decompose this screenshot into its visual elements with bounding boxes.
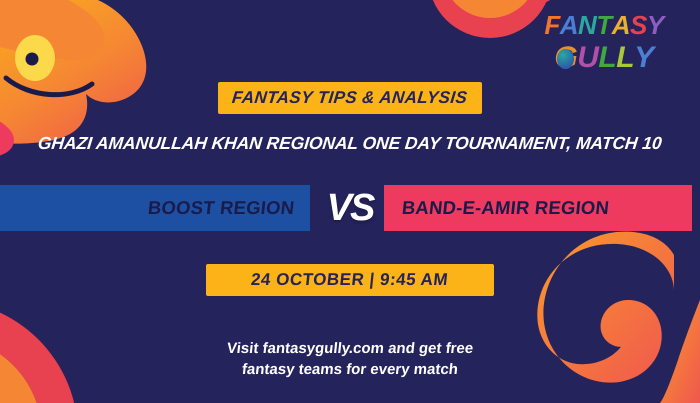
team-left-bar[interactable]: BOOST REGION [0,185,310,231]
poster-canvas: FANTASY GULLY FANTASY TIPS & ANALYSIS GH… [0,0,700,403]
brand-logo-line1: FANTASY [520,8,688,38]
poster-content: FANTASY GULLY FANTASY TIPS & ANALYSIS GH… [0,0,700,403]
footer-line-1: Visit fantasygully.com and get free [0,338,700,359]
brand-letter-l-2: L [598,43,616,73]
brand-letter-a-1: A [560,12,578,38]
chameleon-icon [557,49,574,69]
brand-letter-u-1: U [577,43,598,73]
brand-letter-g-0: G [554,43,577,73]
brand-letter-s-5: S [630,12,647,38]
team-left-name: BOOST REGION [148,197,294,219]
team-right-name: BAND-E-AMIR REGION [402,197,609,219]
tournament-title-text: GHAZI AMANULLAH KHAN REGIONAL ONE DAY TO… [37,133,663,154]
brand-letter-y-4: Y [634,43,654,73]
brand-letter-a-4: A [612,12,630,38]
brand-logo[interactable]: FANTASY GULLY [520,8,688,74]
brand-letter-l-3: L [616,43,634,73]
brand-letter-t-3: T [596,12,611,38]
fantasy-tips-badge[interactable]: FANTASY TIPS & ANALYSIS [218,82,482,114]
team-right-bar[interactable]: BAND-E-AMIR REGION [384,185,692,231]
brand-letter-y-6: Y [647,12,664,38]
brand-letter-n-2: N [578,12,596,38]
versus-text: VS [327,187,374,230]
match-datetime-banner: 24 OCTOBER | 9:45 AM [206,264,494,296]
match-datetime-text: 24 OCTOBER | 9:45 AM [251,270,448,290]
tournament-title: GHAZI AMANULLAH KHAN REGIONAL ONE DAY TO… [0,133,700,154]
brand-letter-f-0: F [544,12,559,38]
versus-label: VS [318,182,382,234]
fantasy-tips-badge-label: FANTASY TIPS & ANALYSIS [231,88,468,108]
footer-line-2: fantasy teams for every match [0,359,700,380]
footer-message: Visit fantasygully.com and get free fant… [0,338,700,380]
brand-logo-line2: GULLY [520,39,688,73]
